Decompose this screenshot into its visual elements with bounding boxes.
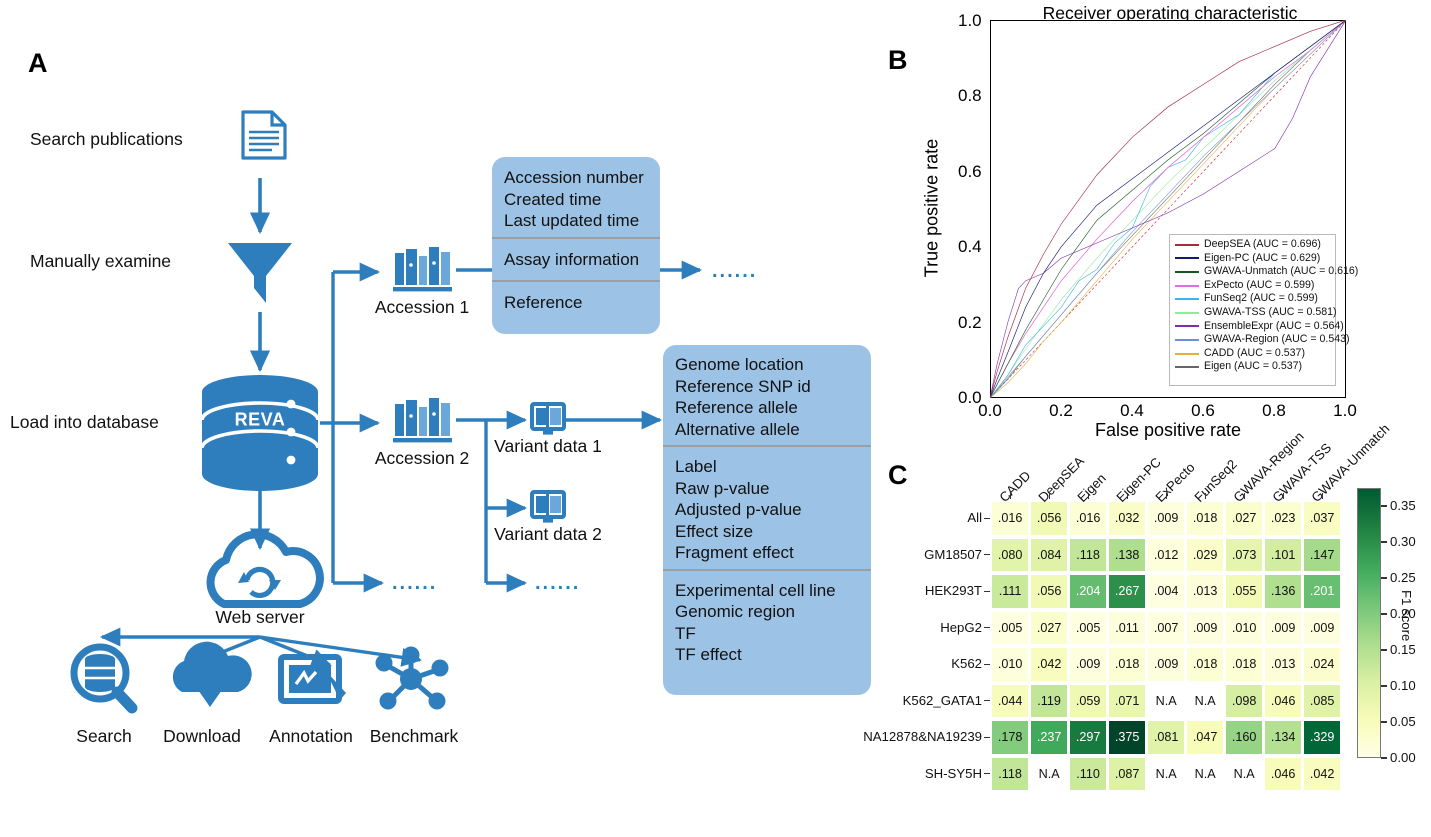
accession-2-label: Accession 2 — [375, 448, 469, 469]
ellipsis-accession: ...... — [392, 572, 437, 595]
service-branch-arrows — [102, 637, 420, 665]
colorbar-tick — [1381, 505, 1387, 506]
cloud-server-icon — [211, 534, 320, 604]
legend-label-deepsea: DeepSEA (AUC = 0.696) — [1204, 238, 1321, 252]
colorbar-tick-label: 0.05 — [1390, 714, 1416, 729]
legend-label-gwava-region: GWAVA-Region (AUC = 0.543) — [1204, 333, 1350, 347]
colorbar-tick-label: 0.35 — [1390, 498, 1416, 513]
colorbar-tick-label: 0.25 — [1390, 570, 1416, 585]
roc-xtick-0.6: 0.6 — [1191, 401, 1215, 421]
legend-item-funseq2: FunSeq2 (AUC = 0.599) — [1175, 292, 1330, 306]
variant-field: TF effect — [675, 644, 859, 666]
accession-info-box: Accession number Created time Last updat… — [492, 157, 660, 334]
variant-field: Adjusted p-value — [675, 499, 859, 521]
variant-field: Label — [675, 456, 859, 478]
variant-field: Raw p-value — [675, 478, 859, 500]
roc-ytick-0.4: 0.4 — [958, 237, 982, 257]
panel-b: B Receiver operating characteristic — [880, 0, 1431, 440]
variant-field: TF — [675, 623, 859, 645]
legend-item-cadd: CADD (AUC = 0.537) — [1175, 347, 1330, 361]
roc-xtick-0.2: 0.2 — [1049, 401, 1073, 421]
database-icon — [202, 375, 318, 491]
database-search-icon — [74, 647, 132, 708]
colorbar-tick-label: 0.10 — [1390, 678, 1416, 693]
colorbar-tick — [1381, 649, 1387, 650]
legend-label-gwava-unmatch: GWAVA-Unmatch (AUC = 0.616) — [1204, 265, 1358, 279]
colorbar-tick — [1381, 757, 1387, 758]
legend-item-eigen: Eigen (AUC = 0.537) — [1175, 360, 1330, 374]
variant-field: Reference SNP id — [675, 376, 859, 398]
variant-field: Genomic region — [675, 601, 859, 623]
colorbar-tick-label: 0.15 — [1390, 642, 1416, 657]
variant-info-box: C Genome location Reference SNP id Refer… — [663, 345, 871, 695]
legend-item-gwava-unmatch: GWAVA-Unmatch (AUC = 0.616) — [1175, 265, 1330, 279]
legend-swatch-eigen — [1175, 366, 1199, 368]
variant-field: Experimental cell line — [675, 580, 859, 602]
accession-field: Accession number — [504, 167, 648, 189]
legend-item-expecto: ExPecto (AUC = 0.599) — [1175, 279, 1330, 293]
cloud-download-icon — [173, 642, 252, 707]
legend-label-cadd: CADD (AUC = 0.537) — [1204, 347, 1305, 361]
roc-legend: DeepSEA (AUC = 0.696) Eigen-PC (AUC = 0.… — [1169, 234, 1336, 386]
service-label-benchmark: Benchmark — [370, 726, 459, 747]
legend-swatch-gwava-unmatch — [1175, 271, 1199, 273]
network-nodes-icon — [376, 647, 449, 710]
accession-field: Created time — [504, 189, 648, 211]
legend-label-eigen: Eigen (AUC = 0.537) — [1204, 360, 1302, 374]
accession-branch-lines — [320, 272, 382, 583]
variant-data-2-label: Variant data 2 — [494, 524, 602, 545]
legend-label-funseq2: FunSeq2 (AUC = 0.599) — [1204, 292, 1318, 306]
accession-info-segment-2: Assay information — [492, 237, 660, 281]
colorbar-tick-label: 0.20 — [1390, 606, 1416, 621]
database-label: REVA — [235, 410, 286, 431]
accession-field: Last updated time — [504, 210, 648, 232]
panel-c: C .016.056.016.032.009.018.027.023.037Al… — [880, 440, 1431, 837]
roc-ytick-0.2: 0.2 — [958, 313, 982, 333]
legend-swatch-cadd — [1175, 353, 1199, 355]
service-label-download: Download — [163, 726, 241, 747]
funnel-icon — [228, 243, 292, 303]
colorbar-tick-label: 0.00 — [1390, 750, 1416, 765]
accession-field: Assay information — [504, 249, 648, 271]
variant-info-segment-2: Label Raw p-value Adjusted p-value Effec… — [663, 445, 871, 569]
legend-item-gwava-region: GWAVA-Region (AUC = 0.543) — [1175, 333, 1330, 347]
legend-label-ensembleexpr: EnsembleExpr (AUC = 0.564) — [1204, 320, 1344, 334]
roc-xtick-0.0: 0.0 — [978, 401, 1002, 421]
accession-field: Reference — [504, 292, 648, 314]
legend-swatch-expecto — [1175, 285, 1199, 287]
open-book-icon-variant-2 — [532, 491, 564, 523]
roc-ytick-0.8: 0.8 — [958, 86, 982, 106]
document-icon — [243, 112, 285, 158]
roc-ytick-0.6: 0.6 — [958, 162, 982, 182]
variant-field: Reference allele — [675, 397, 859, 419]
figure-root: A Search publications Manually examine L… — [0, 0, 1431, 837]
legend-swatch-eigen-pc — [1175, 257, 1199, 259]
colorbar-tick — [1381, 541, 1387, 542]
books-icon-accession-1 — [393, 247, 452, 291]
roc-ytick-1.0: 1.0 — [958, 11, 982, 31]
colorbar-tick — [1381, 613, 1387, 614]
panel-a: A Search publications Manually examine L… — [0, 0, 890, 837]
variant-field: Fragment effect — [675, 542, 859, 564]
colorbar-ticks: 0.000.050.100.150.200.250.300.35 — [880, 440, 1431, 837]
variant-data-1-label: Variant data 1 — [494, 436, 602, 457]
roc-xaxis-title: False positive rate — [1095, 420, 1241, 441]
service-label-search: Search — [76, 726, 131, 747]
ellipsis-accession-box: ...... — [712, 260, 757, 283]
variant-field: Genome location — [675, 354, 859, 376]
accession-info-segment-1: Accession number Created time Last updat… — [492, 157, 660, 237]
web-server-label: Web server — [215, 607, 304, 628]
roc-xtick-0.4: 0.4 — [1120, 401, 1144, 421]
legend-swatch-funseq2 — [1175, 298, 1199, 300]
accession-info-segment-3: Reference — [492, 280, 660, 319]
legend-item-ensembleexpr: EnsembleExpr (AUC = 0.564) — [1175, 320, 1330, 334]
annotation-screen-icon — [281, 657, 346, 701]
legend-swatch-ensembleexpr — [1175, 325, 1199, 327]
roc-yaxis-title: True positive rate — [922, 139, 943, 277]
legend-swatch-gwava-region — [1175, 339, 1199, 341]
panel-b-letter: B — [888, 47, 908, 74]
variant-field: Alternative allele — [675, 419, 859, 441]
roc-xtick-1.0: 1.0 — [1333, 401, 1357, 421]
legend-item-deepsea: DeepSEA (AUC = 0.696) — [1175, 238, 1330, 252]
legend-label-eigen-pc: Eigen-PC (AUC = 0.629) — [1204, 252, 1320, 266]
service-label-annotation: Annotation — [269, 726, 353, 747]
variant-field: Effect size — [675, 521, 859, 543]
colorbar-tick — [1381, 721, 1387, 722]
accession-1-label: Accession 1 — [375, 297, 469, 318]
legend-swatch-deepsea — [1175, 244, 1199, 246]
colorbar-tick — [1381, 685, 1387, 686]
legend-item-eigen-pc: Eigen-PC (AUC = 0.629) — [1175, 252, 1330, 266]
variant-info-segment-3: Experimental cell line Genomic region TF… — [663, 569, 871, 671]
roc-xtick-0.8: 0.8 — [1262, 401, 1286, 421]
legend-label-expecto: ExPecto (AUC = 0.599) — [1204, 279, 1314, 293]
variant-info-segment-1: C Genome location Reference SNP id Refer… — [663, 345, 871, 445]
colorbar-tick-label: 0.30 — [1390, 534, 1416, 549]
open-book-icon-variant-1 — [532, 403, 564, 435]
ellipsis-variant: ...... — [535, 572, 580, 595]
colorbar-tick — [1381, 577, 1387, 578]
legend-swatch-gwava-tss — [1175, 312, 1199, 314]
legend-item-gwava-tss: GWAVA-TSS (AUC = 0.581) — [1175, 306, 1330, 320]
books-icon-accession-2 — [393, 398, 452, 442]
legend-label-gwava-tss: GWAVA-TSS (AUC = 0.581) — [1204, 306, 1337, 320]
